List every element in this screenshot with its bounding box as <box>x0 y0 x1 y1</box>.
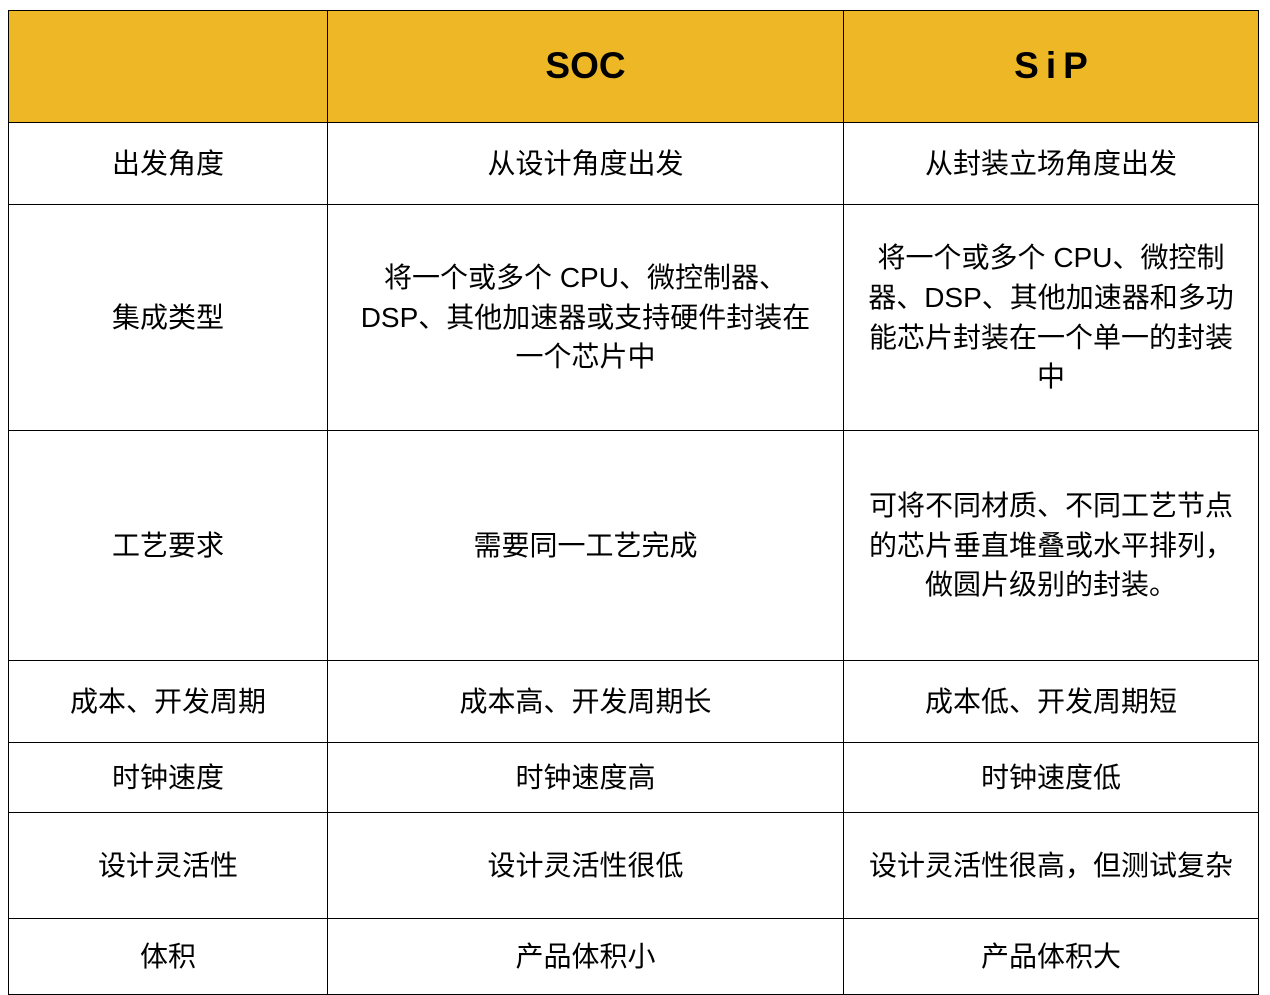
table-row: 集成类型 将一个或多个 CPU、微控制器、DSP、其他加速器或支持硬件封装在一个… <box>9 205 1259 431</box>
cell-soc: 成本高、开发周期长 <box>328 661 844 743</box>
header-cell-sip: SiP <box>844 11 1259 123</box>
row-label: 出发角度 <box>9 123 328 205</box>
table-row: 成本、开发周期 成本高、开发周期长 成本低、开发周期短 <box>9 661 1259 743</box>
soc-sip-comparison-table: SOC SiP 出发角度 从设计角度出发 从封装立场角度出发 集成类型 将一个或… <box>8 10 1259 995</box>
table-row: 体积 产品体积小 产品体积大 <box>9 919 1259 995</box>
cell-sip: 成本低、开发周期短 <box>844 661 1259 743</box>
cell-sip: 将一个或多个 CPU、微控制器、DSP、其他加速器和多功能芯片封装在一个单一的封… <box>844 205 1259 431</box>
cell-sip: 从封装立场角度出发 <box>844 123 1259 205</box>
table-header: SOC SiP <box>9 11 1259 123</box>
row-label: 成本、开发周期 <box>9 661 328 743</box>
cell-sip: 可将不同材质、不同工艺节点的芯片垂直堆叠或水平排列，做圆片级别的封装。 <box>844 431 1259 661</box>
cell-soc: 从设计角度出发 <box>328 123 844 205</box>
row-label: 时钟速度 <box>9 743 328 813</box>
row-label: 工艺要求 <box>9 431 328 661</box>
header-row: SOC SiP <box>9 11 1259 123</box>
cell-soc: 将一个或多个 CPU、微控制器、DSP、其他加速器或支持硬件封装在一个芯片中 <box>328 205 844 431</box>
table-row: 设计灵活性 设计灵活性很低 设计灵活性很高，但测试复杂 <box>9 813 1259 919</box>
table-row: 出发角度 从设计角度出发 从封装立场角度出发 <box>9 123 1259 205</box>
cell-sip: 设计灵活性很高，但测试复杂 <box>844 813 1259 919</box>
cell-soc: 需要同一工艺完成 <box>328 431 844 661</box>
cell-sip: 产品体积大 <box>844 919 1259 995</box>
cell-sip: 时钟速度低 <box>844 743 1259 813</box>
cell-soc: 产品体积小 <box>328 919 844 995</box>
table-body: 出发角度 从设计角度出发 从封装立场角度出发 集成类型 将一个或多个 CPU、微… <box>9 123 1259 995</box>
cell-soc: 设计灵活性很低 <box>328 813 844 919</box>
table-row: 工艺要求 需要同一工艺完成 可将不同材质、不同工艺节点的芯片垂直堆叠或水平排列，… <box>9 431 1259 661</box>
row-label: 设计灵活性 <box>9 813 328 919</box>
page-root: SOC SiP 出发角度 从设计角度出发 从封装立场角度出发 集成类型 将一个或… <box>0 0 1270 981</box>
cell-soc: 时钟速度高 <box>328 743 844 813</box>
row-label: 集成类型 <box>9 205 328 431</box>
header-cell-soc: SOC <box>328 11 844 123</box>
table-row: 时钟速度 时钟速度高 时钟速度低 <box>9 743 1259 813</box>
header-cell-blank <box>9 11 328 123</box>
row-label: 体积 <box>9 919 328 995</box>
